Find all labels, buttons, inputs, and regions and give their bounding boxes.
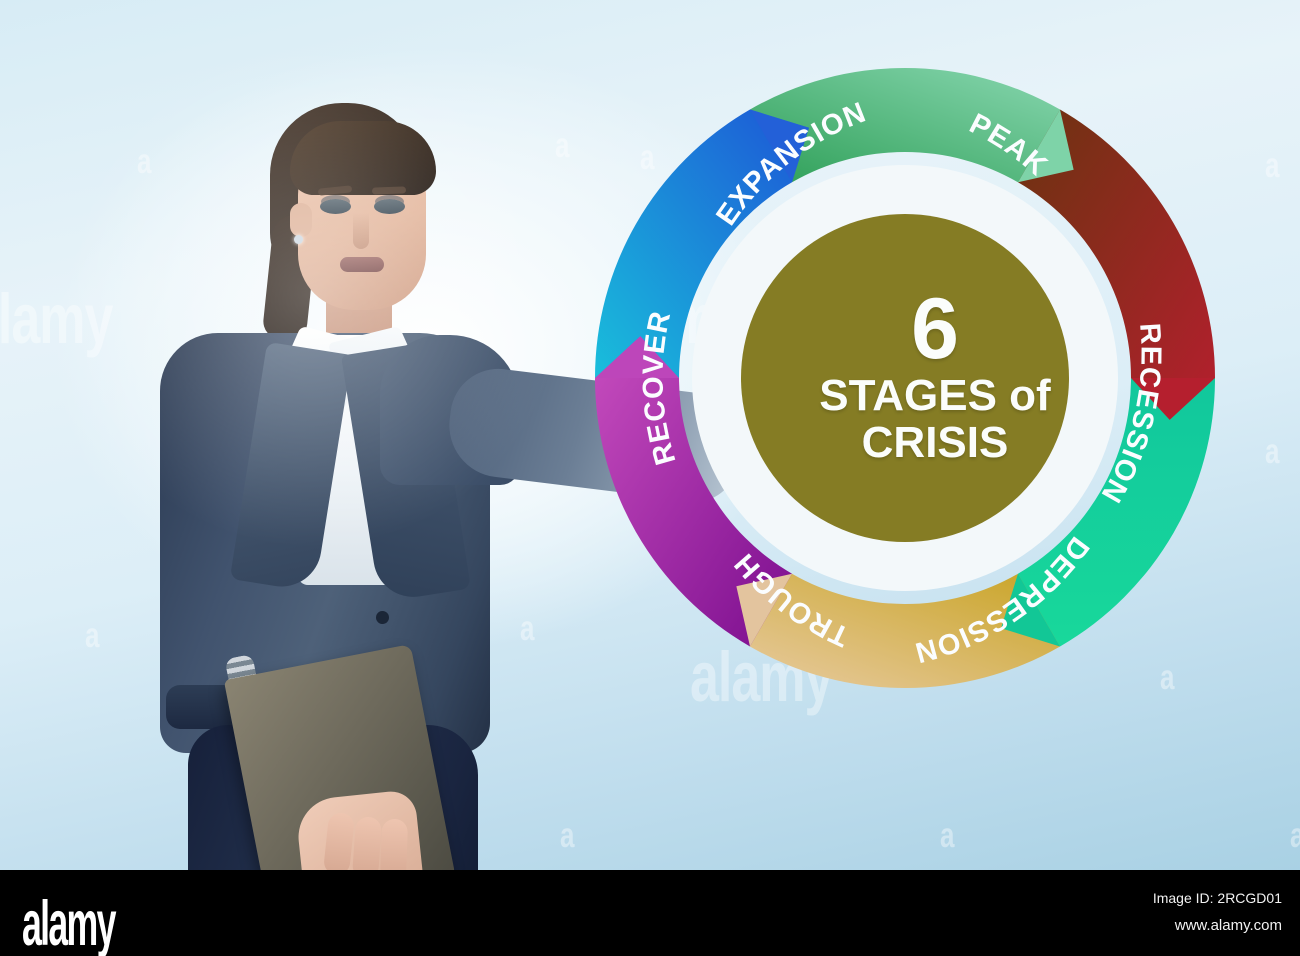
watermark-letter: a — [1265, 145, 1278, 187]
footer-meta: Image ID: 2RCGD01 www.alamy.com — [1153, 884, 1282, 940]
stock-photo-page: a a a a a alamy alamy a a a a a a a alam… — [0, 0, 1300, 956]
crisis-cycle-infographic: EXPANSION PEAK RECESSION DEPRESSION TROU… — [580, 48, 1230, 708]
cycle-ring-svg: EXPANSION PEAK RECESSION DEPRESSION TROU… — [580, 48, 1230, 708]
watermark-letter: a — [137, 141, 150, 183]
finger — [352, 816, 382, 870]
blazer-button — [376, 611, 389, 624]
watermark-letter: a — [85, 615, 98, 657]
watermark-word: alamy — [0, 280, 112, 361]
alamy-footer-bar: alamy Image ID: 2RCGD01 www.alamy.com — [0, 870, 1300, 956]
eye-left — [320, 199, 351, 214]
center-disc — [741, 214, 1069, 542]
photo-canvas: a a a a a alamy alamy a a a a a a a alam… — [0, 0, 1300, 870]
image-id-text: Image ID: 2RCGD01 — [1153, 884, 1282, 912]
eye-right — [374, 199, 405, 214]
finger — [380, 819, 408, 870]
businesswoman-figure — [150, 95, 570, 870]
ear — [290, 203, 312, 237]
watermark-letter: a — [940, 815, 953, 857]
nose — [353, 213, 369, 249]
eyebrow-right — [372, 186, 406, 194]
alamy-logo[interactable]: alamy — [22, 888, 115, 956]
website-link[interactable]: www.alamy.com — [1153, 912, 1282, 940]
hair-front — [290, 121, 436, 195]
watermark-letter: a — [1290, 815, 1300, 857]
lips — [340, 257, 384, 272]
earring — [294, 235, 303, 244]
watermark-letter: a — [1265, 431, 1278, 473]
